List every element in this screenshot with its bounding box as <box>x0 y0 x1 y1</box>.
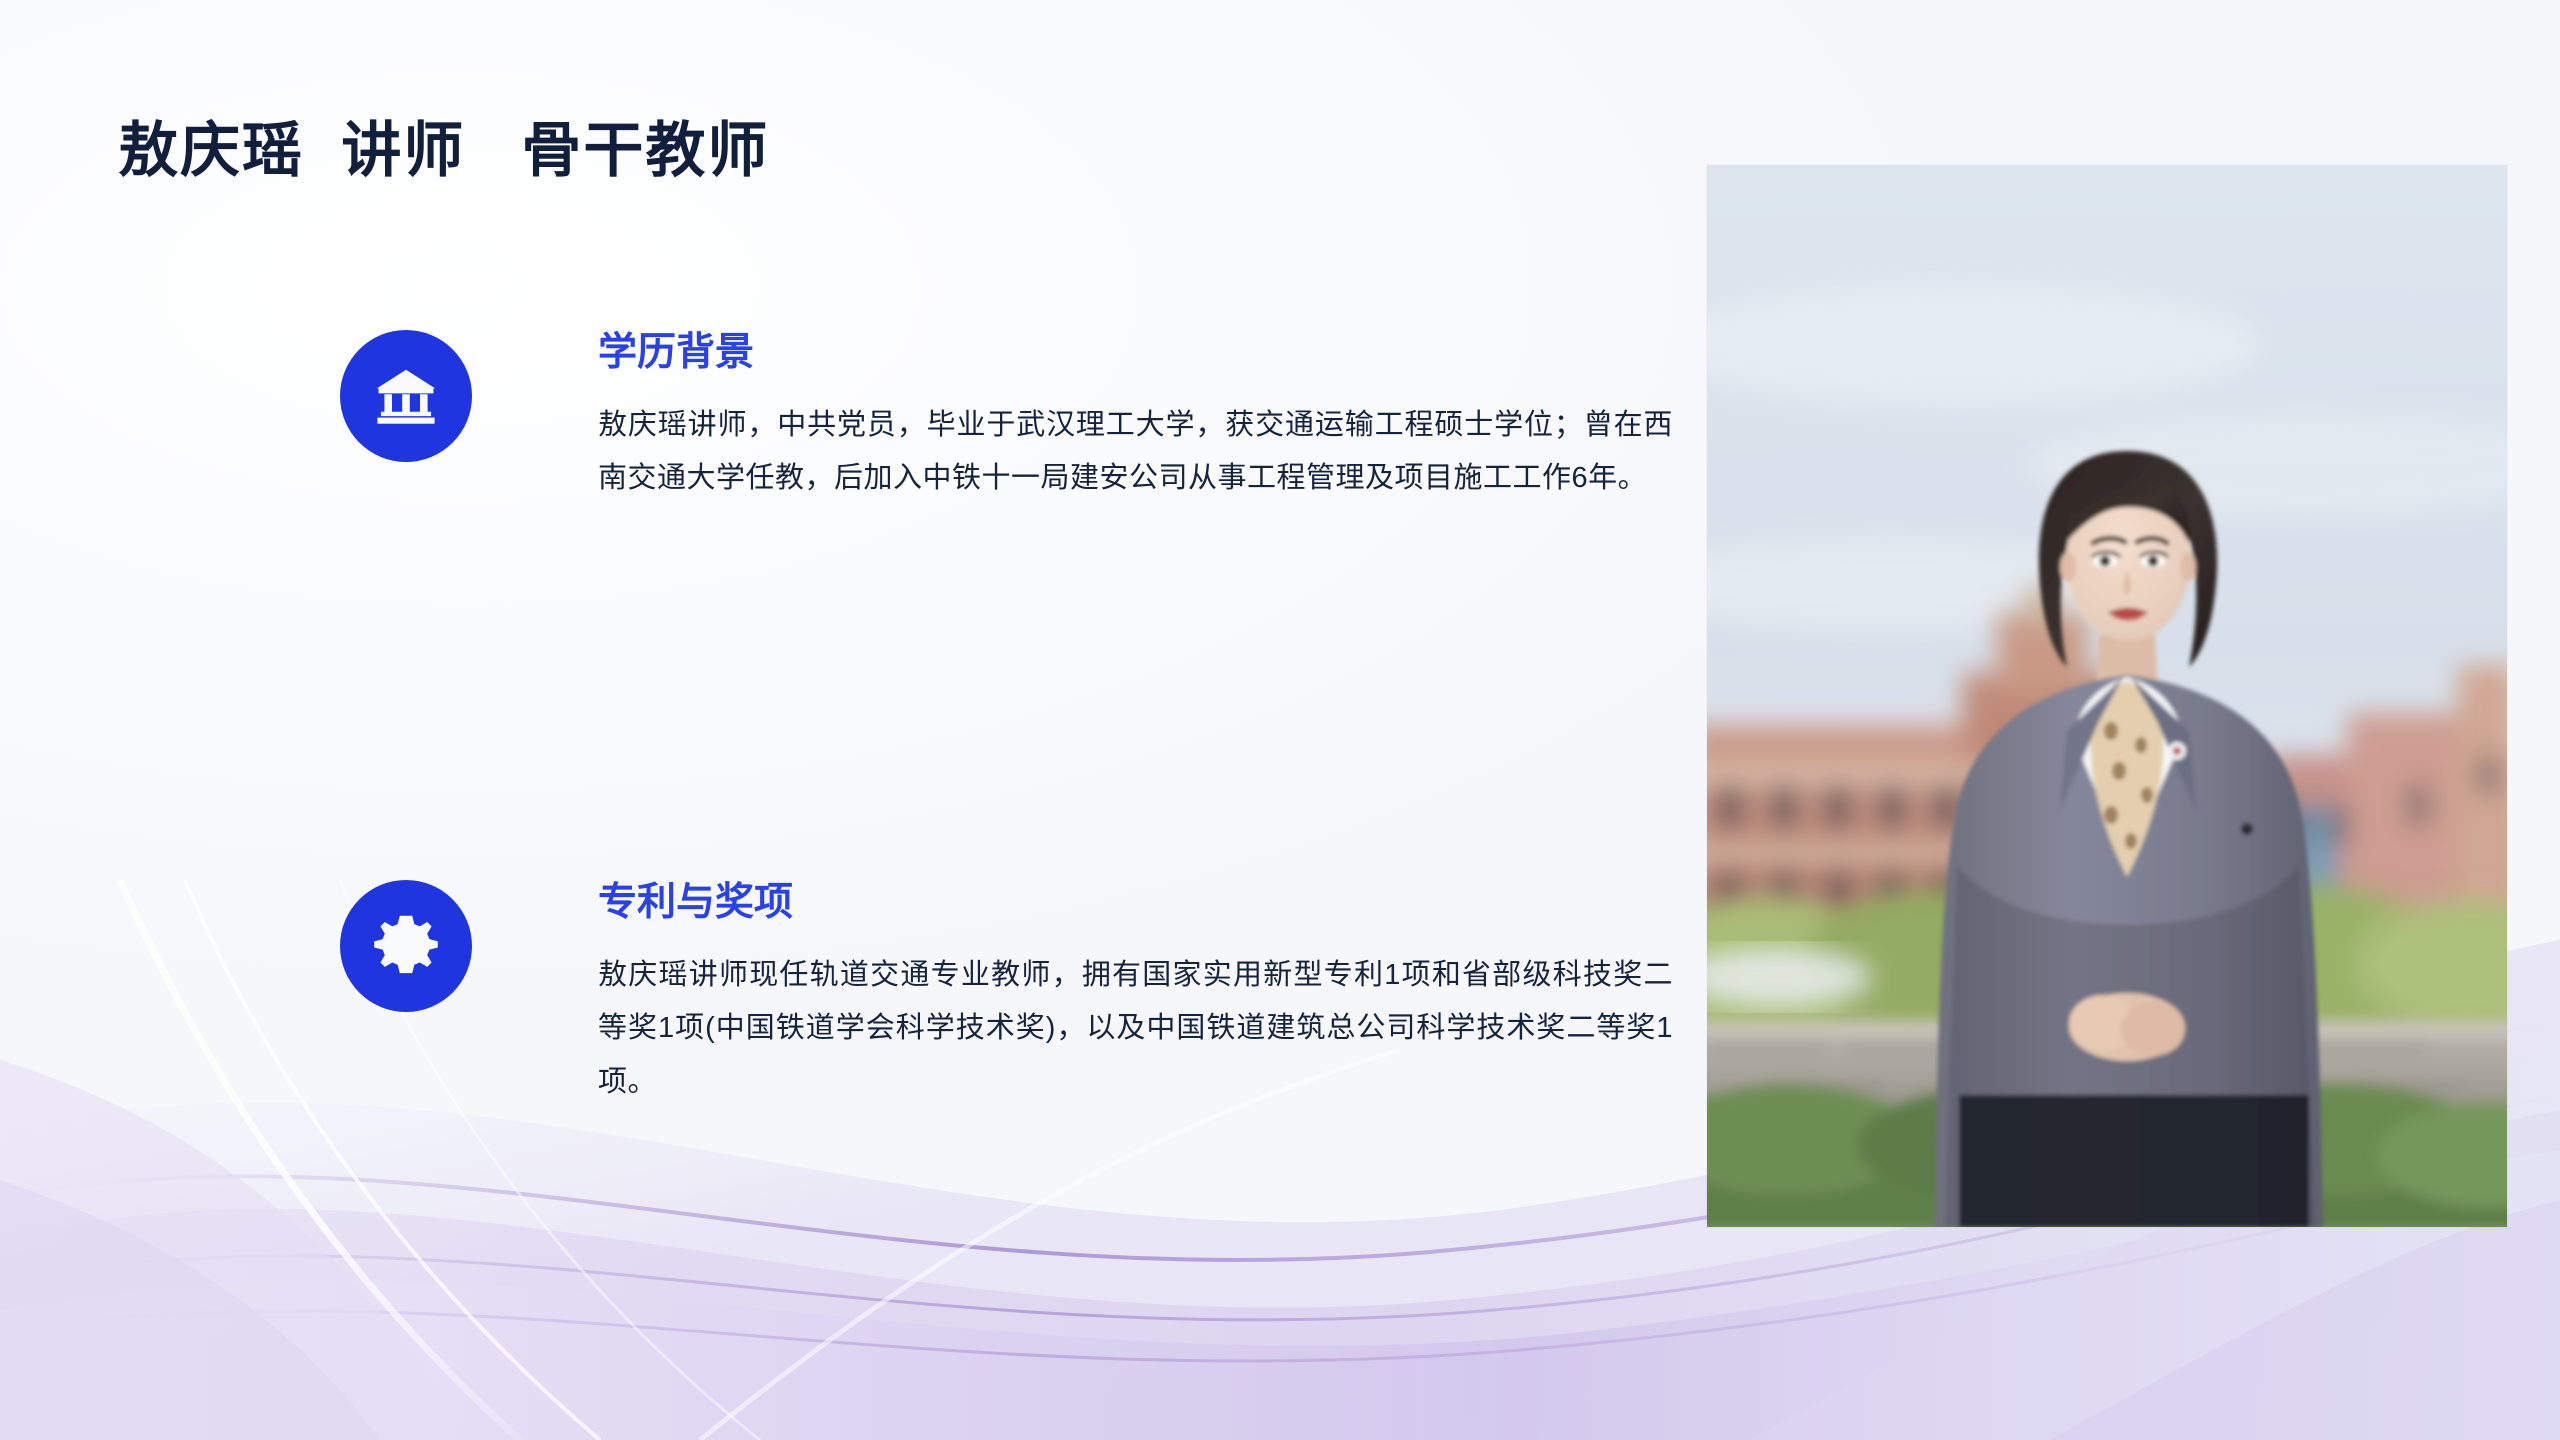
section-heading: 学历背景 <box>598 330 1698 377</box>
section-paragraph: 敖庆瑶讲师现任轨道交通专业教师，拥有国家实用新型专利1项和省部级科技奖二等奖1项… <box>598 949 1673 1110</box>
gear-icon <box>340 880 472 1012</box>
section-education-background: 学历背景 敖庆瑶讲师，中共党员，毕业于武汉理工大学，获交通运输工程硕士学位；曾在… <box>340 330 1698 506</box>
section-paragraph: 敖庆瑶讲师，中共党员，毕业于武汉理工大学，获交通运输工程硕士学位；曾在西南交通大… <box>598 399 1673 506</box>
instructor-portrait-photo <box>1707 165 2507 1227</box>
page-title: 敖庆瑶 讲师 骨干教师 <box>118 118 769 184</box>
section-patents-awards: 专利与奖项 敖庆瑶讲师现任轨道交通专业教师，拥有国家实用新型专利1项和省部级科技… <box>340 880 1698 1110</box>
bank-icon <box>340 330 472 462</box>
section-body: 学历背景 敖庆瑶讲师，中共党员，毕业于武汉理工大学，获交通运输工程硕士学位；曾在… <box>598 330 1698 506</box>
section-heading: 专利与奖项 <box>598 880 1698 927</box>
section-body: 专利与奖项 敖庆瑶讲师现任轨道交通专业教师，拥有国家实用新型专利1项和省部级科技… <box>598 880 1698 1110</box>
